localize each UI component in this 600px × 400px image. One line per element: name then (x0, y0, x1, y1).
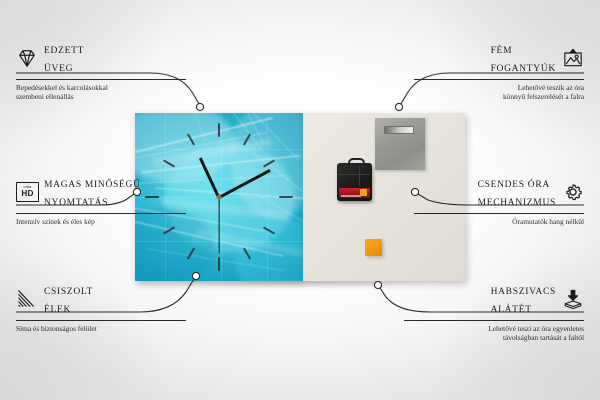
feature-polished-edges: CSISZOLT ÉLEK Sima és biztonságos felüle… (16, 281, 186, 333)
movement-seam-vertical (359, 166, 360, 186)
feature-divider (414, 213, 584, 214)
feature-hq-printing: ultraHD MAGAS MINŐSÉGŰ NYOMTATÁS Intenzí… (16, 174, 186, 226)
diamond-icon (16, 48, 38, 68)
feature-desc-line2: távolságban tartását a faltól (404, 333, 584, 342)
movement-hanger-loop (348, 158, 365, 168)
feature-desc-line1: Intenzív színek és éles kép (16, 217, 186, 226)
feature-desc-line1: Sima és biztonságos felület (16, 324, 186, 333)
gear-icon (562, 182, 584, 202)
picture-hanger-icon (562, 48, 584, 68)
clock-tick-12 (218, 123, 220, 137)
feature-divider (16, 213, 186, 214)
infographic-stage: EDZETT ÜVEG Repedésekkel és karcolásokka… (0, 0, 600, 400)
metal-hanger (375, 118, 425, 170)
clock-tick-6 (218, 257, 220, 271)
feature-desc-line1: Lehetővé teszik az óra (414, 83, 584, 92)
feature-divider (16, 79, 186, 80)
feature-header: EDZETT ÜVEG (16, 40, 186, 76)
foam-pad-icon (562, 289, 584, 309)
feature-header: FÉM FOGANTYÚK (414, 40, 584, 76)
ultra-hd-badge-icon: ultraHD (16, 182, 38, 202)
feature-header: ultraHD MAGAS MINŐSÉGŰ NYOMTATÁS (16, 174, 186, 210)
hanger-slot (384, 126, 414, 134)
feature-silent-movement: CSENDES ÓRA MECHANIZMUS Óramutatók hang … (414, 174, 584, 226)
feature-title: CSENDES ÓRA MECHANIZMUS (478, 174, 556, 210)
clock-tick-3 (279, 196, 293, 198)
feature-desc-line2: könnyű felszerelését a falra (414, 92, 584, 101)
feature-metal-handles: FÉM FOGANTYÚK Lehetővé teszik az óra kön… (414, 40, 584, 102)
quartz-movement (337, 163, 372, 201)
polished-edge-icon (16, 289, 38, 309)
feature-tempered-glass: EDZETT ÜVEG Repedésekkel és karcolásokka… (16, 40, 186, 102)
feature-divider (16, 320, 186, 321)
feature-title: EDZETT ÜVEG (44, 40, 84, 76)
feature-header: CSISZOLT ÉLEK (16, 281, 186, 317)
foam-pad (365, 239, 382, 256)
movement-seam (339, 174, 370, 175)
feature-desc-line1: Repedésekkel és karcolásokkal (16, 83, 186, 92)
feature-divider (414, 79, 584, 80)
feature-foam-pad: HABSZIVACS ALÁTÉT Lehetővé teszi az óra … (404, 281, 584, 343)
feature-header: CSENDES ÓRA MECHANIZMUS (414, 174, 584, 210)
clock-center-hub (217, 195, 222, 200)
battery-positive-terminal (360, 189, 367, 196)
battery-label (341, 195, 361, 197)
feature-desc-line2: szembeni ellenállás (16, 92, 186, 101)
feature-divider (404, 320, 584, 321)
feature-desc-line1: Óramutatók hang nélkül (414, 217, 584, 226)
feature-title: FÉM FOGANTYÚK (491, 40, 556, 76)
feature-header: HABSZIVACS ALÁTÉT (404, 281, 584, 317)
battery (339, 188, 370, 198)
feature-title: HABSZIVACS ALÁTÉT (491, 281, 556, 317)
feature-title: MAGAS MINŐSÉGŰ NYOMTATÁS (44, 174, 141, 210)
clock-second-hand (218, 197, 219, 253)
feature-desc-line1: Lehetővé teszi az óra egyenletes (404, 324, 584, 333)
feature-title: CSISZOLT ÉLEK (44, 281, 93, 317)
